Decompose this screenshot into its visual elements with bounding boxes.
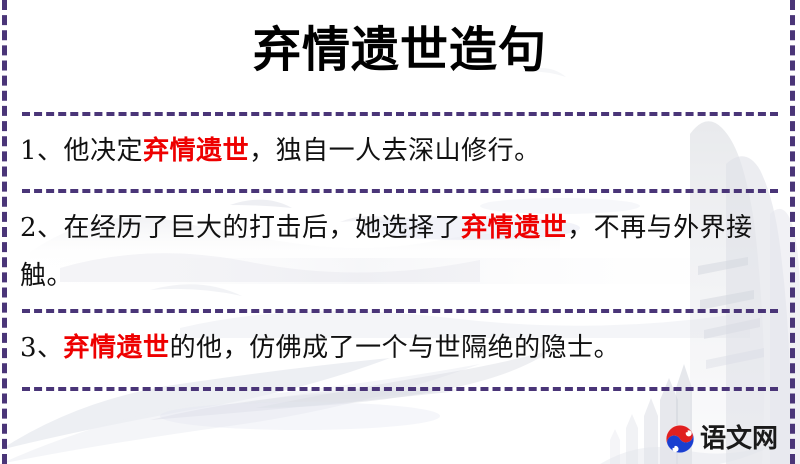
site-watermark: 语文网 [665, 424, 778, 454]
yinyang-circle-icon [665, 424, 695, 454]
sentence-1-after: ，独自一人去深山修行。 [249, 136, 541, 166]
sentence-3-index: 3、 [20, 333, 64, 363]
sentence-1-before: 他决定 [64, 136, 144, 166]
dashed-separator-2 [22, 189, 778, 193]
slide-page: 弃情遗世造句 1、他决定弃情遗世，独自一人去深山修行。 2、在经历了巨大的打击后… [0, 0, 800, 464]
sentence-2-before: 在经历了巨大的打击后，她选择了 [64, 213, 462, 243]
dashed-separator-3 [22, 309, 778, 313]
watermark-label: 语文网 [700, 426, 778, 452]
dashed-separator-4 [22, 387, 778, 391]
sentence-2-keyword: 弃情遗世 [461, 213, 567, 243]
page-title: 弃情遗世造句 [0, 24, 800, 77]
example-sentence-3: 3、弃情遗世的他，仿佛成了一个与世隔绝的隐士。 [20, 324, 774, 372]
sentence-2-index: 2、 [20, 213, 64, 243]
sentence-3-keyword: 弃情遗世 [64, 333, 170, 363]
sentence-3-after: 的他，仿佛成了一个与世隔绝的隐士。 [170, 333, 621, 363]
sentence-1-keyword: 弃情遗世 [143, 136, 249, 166]
example-sentence-1: 1、他决定弃情遗世，独自一人去深山修行。 [20, 127, 774, 175]
sentence-1-index: 1、 [20, 136, 64, 166]
example-sentence-2: 2、在经历了巨大的打击后，她选择了弃情遗世，不再与外界接触。 [20, 204, 774, 300]
dashed-separator-1 [22, 112, 778, 116]
